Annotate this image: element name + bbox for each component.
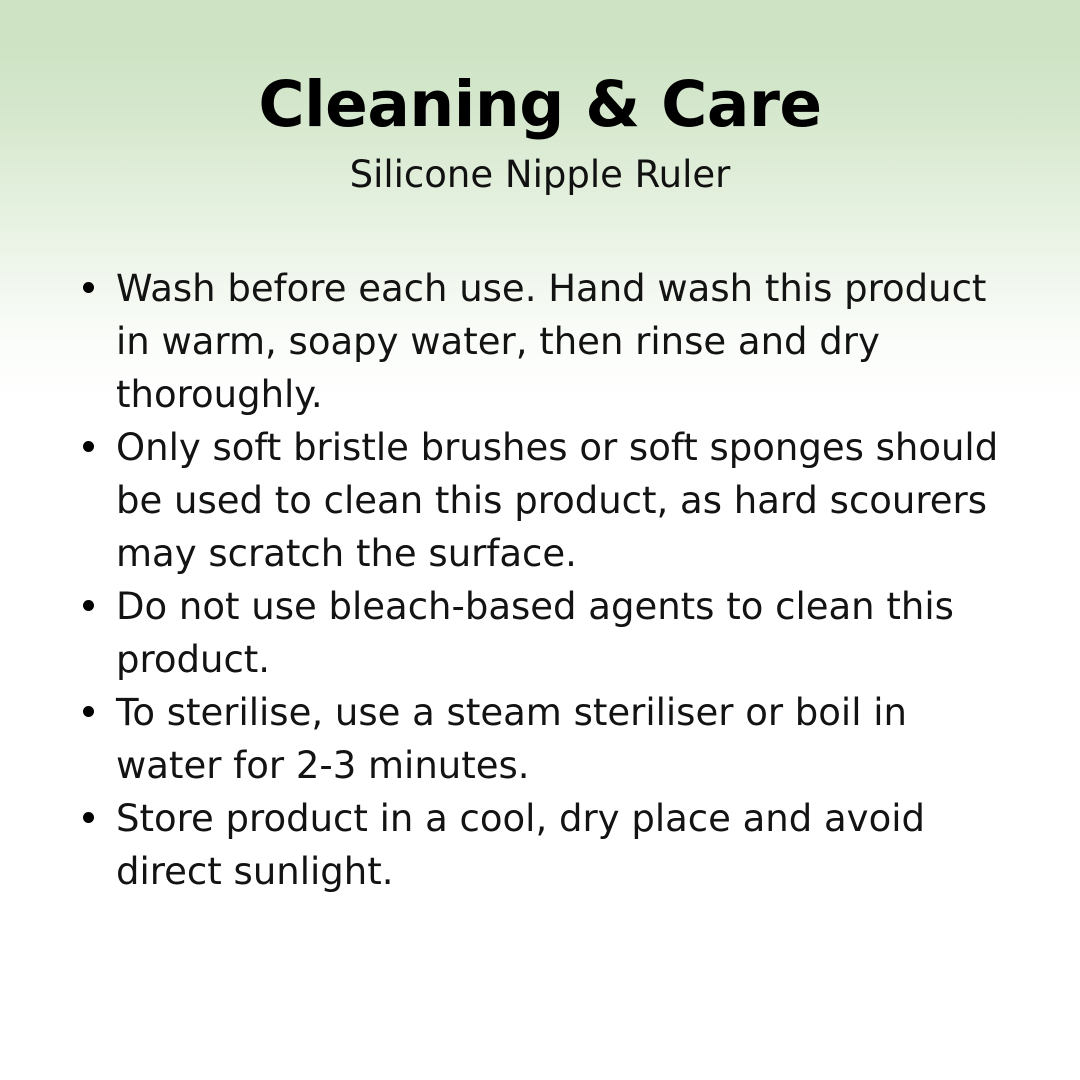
list-item-text: Store product in a cool, dry place and a… <box>116 797 925 893</box>
care-instructions-card: Cleaning & Care Silicone Nipple Ruler Wa… <box>0 0 1080 1080</box>
list-item-text: Only soft bristle brushes or soft sponge… <box>116 426 998 575</box>
bullet-icon <box>83 282 94 293</box>
list-item-text: To sterilise, use a steam steriliser or … <box>116 691 907 787</box>
list-item: Wash before each use. Hand wash this pro… <box>72 262 1008 421</box>
list-item: Only soft bristle brushes or soft sponge… <box>72 421 1008 580</box>
list-item: Do not use bleach-based agents to clean … <box>72 580 1008 686</box>
page-title: Cleaning & Care <box>0 72 1080 138</box>
card-header: Cleaning & Care Silicone Nipple Ruler <box>0 0 1080 198</box>
bullet-icon <box>83 706 94 717</box>
bullet-icon <box>83 600 94 611</box>
bullet-icon <box>83 812 94 823</box>
list-item: To sterilise, use a steam steriliser or … <box>72 686 1008 792</box>
list-item-text: Wash before each use. Hand wash this pro… <box>116 267 986 416</box>
bullet-icon <box>83 441 94 452</box>
instructions-list: Wash before each use. Hand wash this pro… <box>72 262 1008 898</box>
list-item-text: Do not use bleach-based agents to clean … <box>116 585 954 681</box>
list-item: Store product in a cool, dry place and a… <box>72 792 1008 898</box>
product-subtitle: Silicone Nipple Ruler <box>0 152 1080 198</box>
